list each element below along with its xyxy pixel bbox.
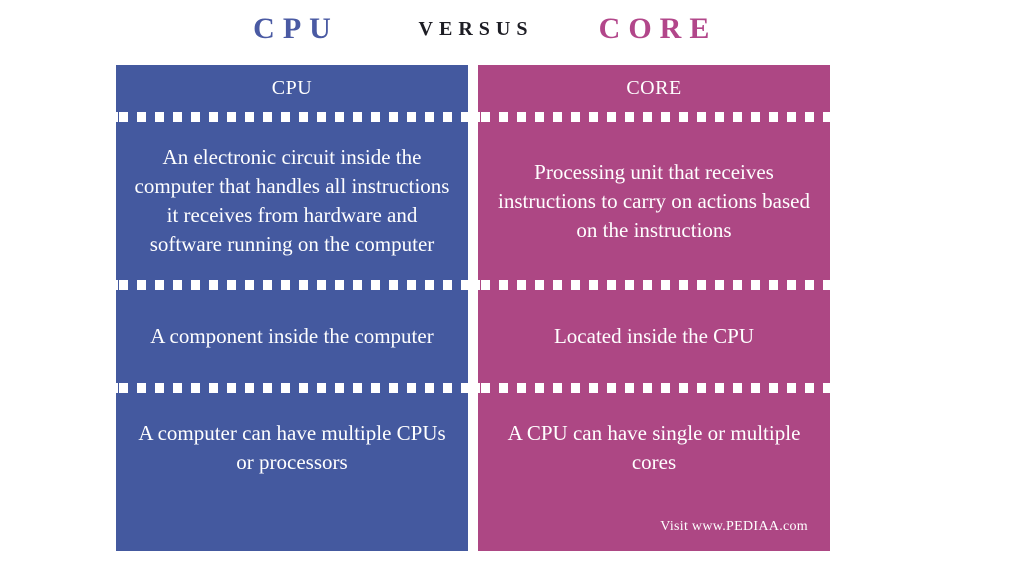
column-header-cpu: CPU — [116, 65, 468, 112]
source-credit: Visit www.PEDIAA.com — [660, 519, 808, 535]
dashed-separator — [478, 112, 830, 122]
table-cell: A component inside the computer — [116, 290, 468, 383]
infographic-title: CPU VERSUS CORE — [116, 6, 830, 52]
dashed-separator — [116, 383, 468, 393]
cell-text: A computer can have multiple CPUs or pro… — [128, 419, 456, 477]
column-header-core: CORE — [478, 65, 830, 112]
cell-text: A CPU can have single or multiple cores — [490, 419, 818, 477]
table-cell: Located inside the CPU — [478, 290, 830, 383]
cell-text: Located inside the CPU — [490, 322, 818, 351]
comparison-column-cpu: CPU An electronic circuit inside the com… — [116, 65, 468, 551]
dashed-separator — [116, 280, 468, 290]
dashed-separator — [478, 383, 830, 393]
cell-text: An electronic circuit inside the compute… — [128, 143, 456, 259]
comparison-column-core: CORE Processing unit that receives instr… — [478, 65, 830, 551]
cell-text: A component inside the computer — [128, 322, 456, 351]
dashed-separator — [478, 280, 830, 290]
cell-text: Processing unit that receives instructio… — [490, 158, 818, 245]
cpu-vs-core-infographic: CPU VERSUS CORE CPU An electronic circui… — [0, 0, 1021, 568]
table-cell: Processing unit that receives instructio… — [478, 122, 830, 280]
table-cell: A computer can have multiple CPUs or pro… — [116, 393, 468, 551]
table-cell: An electronic circuit inside the compute… — [116, 122, 468, 280]
dashed-separator — [116, 112, 468, 122]
comparison-table: CPU An electronic circuit inside the com… — [116, 65, 830, 551]
title-versus: VERSUS — [413, 19, 534, 39]
